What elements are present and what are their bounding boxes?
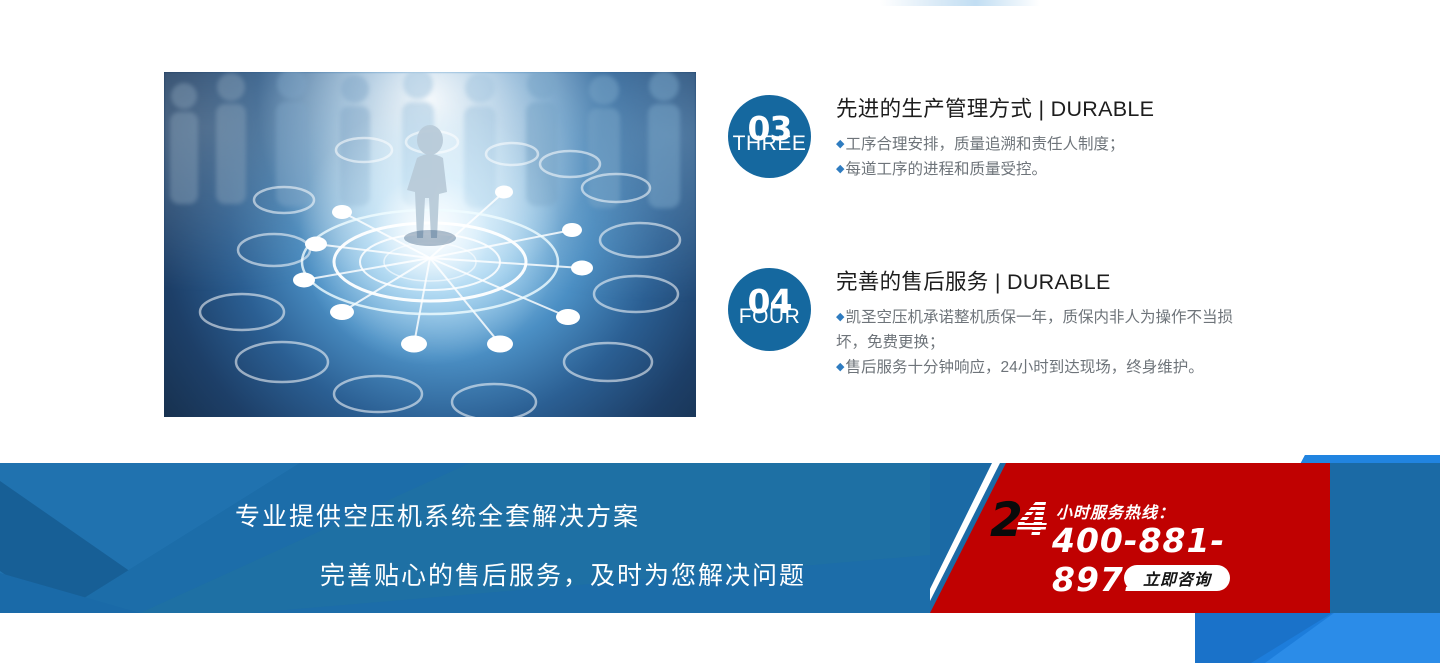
feature-lines-03: ◆工序合理安排，质量追溯和责任人制度； ◆每道工序的进程和质量受控。 <box>836 132 1154 182</box>
feature-block-04: 04 FOUR 完善的售后服务 | DURABLE ◆凯圣空压机承诺整机质保一年… <box>728 268 1248 380</box>
feature-line-text: 凯圣空压机承诺整机质保一年，质保内非人为操作不当损坏，免费更换； <box>836 309 1233 351</box>
diamond-bullet-icon: ◆ <box>836 361 844 373</box>
badge-word: THREE <box>728 133 811 154</box>
feature-title: 先进的生产管理方式 | DURABLE <box>836 97 1154 123</box>
feature-line-text: 售后服务十分钟响应，24小时到达现场，终身维护。 <box>845 359 1203 376</box>
badge-04: 04 FOUR <box>728 268 811 351</box>
feature-body-03: 先进的生产管理方式 | DURABLE ◆工序合理安排，质量追溯和责任人制度； … <box>836 95 1154 182</box>
diamond-bullet-icon: ◆ <box>836 138 844 150</box>
feature-line: ◆工序合理安排，质量追溯和责任人制度； <box>836 132 1154 157</box>
consult-now-button[interactable]: 立即咨询 <box>1124 565 1230 591</box>
mark-digit-4: 4 <box>1017 497 1050 544</box>
slogan-line-2: 完善贴心的售后服务，及时为您解决问题 <box>320 556 806 592</box>
feature-block-03: 03 THREE 先进的生产管理方式 | DURABLE ◆工序合理安排，质量追… <box>728 95 1154 182</box>
feature-line-text: 每道工序的进程和质量受控。 <box>845 161 1047 178</box>
page-root: 03 THREE 先进的生产管理方式 | DURABLE ◆工序合理安排，质量追… <box>0 0 1440 663</box>
slogan-line-1: 专业提供空压机系统全套解决方案 <box>235 497 640 533</box>
feature-line: ◆售后服务十分钟响应，24小时到达现场，终身维护。 <box>836 355 1248 380</box>
hotline-block: 2 4 小时服务热线： 400-881-8971 <box>990 495 1320 575</box>
feature-lines-04: ◆凯圣空压机承诺整机质保一年，质保内非人为操作不当损坏，免费更换； ◆售后服务十… <box>836 305 1248 380</box>
badge-word: FOUR <box>728 306 811 327</box>
badge-03: 03 THREE <box>728 95 811 178</box>
diamond-bullet-icon: ◆ <box>836 163 844 175</box>
banner-slogan: 专业提供空压机系统全套解决方案 完善贴心的售后服务，及时为您解决问题 <box>0 463 930 613</box>
network-people-illustration <box>164 72 696 417</box>
feature-line: ◆每道工序的进程和质量受控。 <box>836 157 1154 182</box>
feature-body-04: 完善的售后服务 | DURABLE ◆凯圣空压机承诺整机质保一年，质保内非人为操… <box>836 268 1248 380</box>
node-links <box>164 72 696 417</box>
feature-title: 完善的售后服务 | DURABLE <box>836 270 1248 296</box>
feature-line-text: 工序合理安排，质量追溯和责任人制度； <box>845 136 1124 153</box>
feature-line: ◆凯圣空压机承诺整机质保一年，质保内非人为操作不当损坏，免费更换； <box>836 305 1248 355</box>
diamond-bullet-icon: ◆ <box>836 311 844 323</box>
hotline-label: 小时服务热线： <box>1056 499 1175 523</box>
top-edge-artifact <box>880 0 1040 6</box>
